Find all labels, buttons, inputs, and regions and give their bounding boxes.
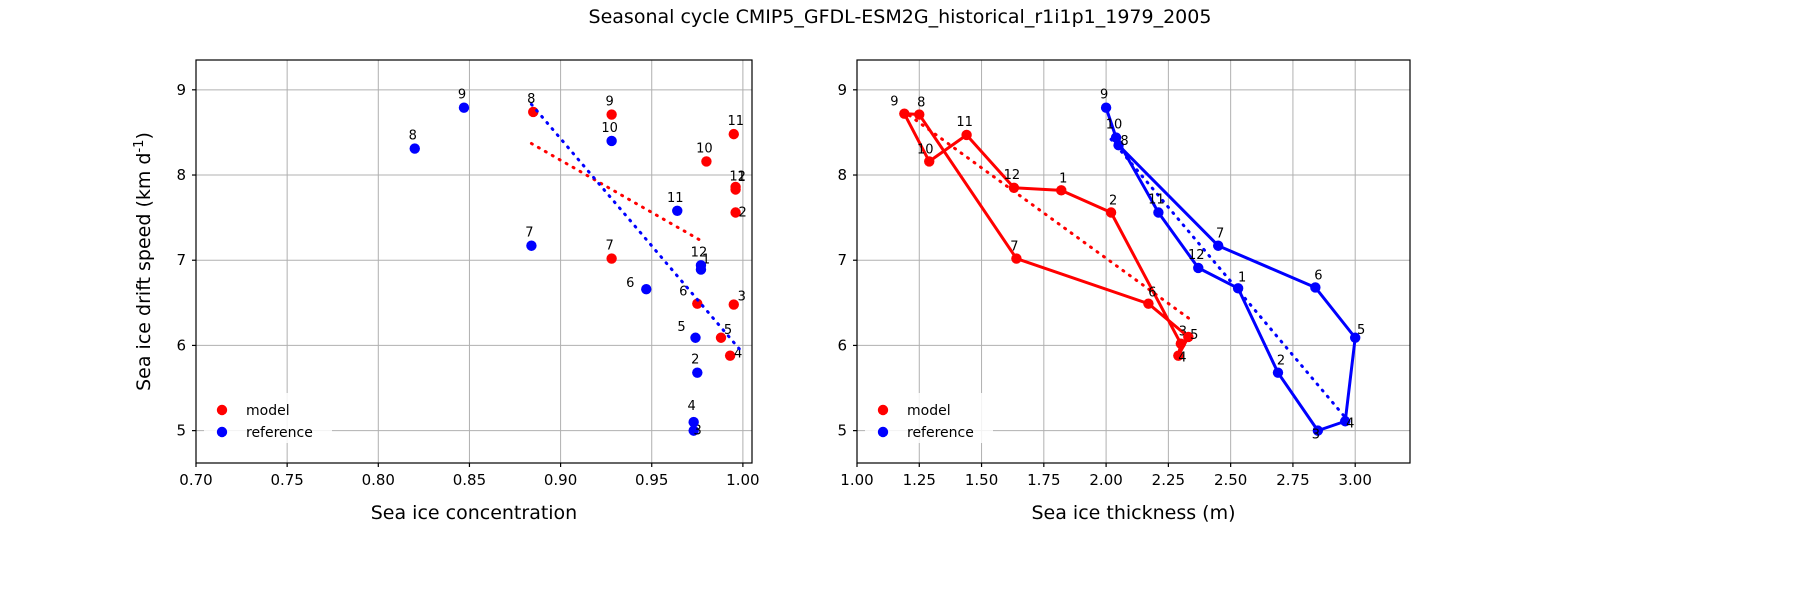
data-point (730, 184, 740, 194)
x-tick-label: 0.90 (544, 471, 577, 489)
scatter-plot-sea-ice-concentration: 0.700.750.800.850.900.951.0056789Sea ice… (0, 0, 880, 600)
legend-marker-model (217, 405, 227, 415)
data-point (690, 333, 700, 343)
x-tick-label: 2.50 (1214, 471, 1247, 489)
data-point (526, 241, 536, 251)
x-tick-label: 0.85 (453, 471, 486, 489)
data-point (961, 130, 971, 140)
point-label: 2 (1277, 354, 1285, 369)
point-label: 10 (917, 142, 934, 157)
point-label: 10 (601, 121, 618, 136)
x-tick-label: 1.75 (1027, 471, 1060, 489)
point-label: 9 (458, 88, 466, 103)
x-tick-label: 0.75 (270, 471, 303, 489)
point-label: 12 (1188, 248, 1205, 263)
data-point (1011, 253, 1021, 263)
y-tick-label: 5 (176, 422, 186, 440)
point-label: 4 (1178, 351, 1186, 366)
point-label: 5 (1190, 328, 1198, 343)
y-tick-label: 9 (176, 81, 186, 99)
point-label: 11 (667, 191, 684, 206)
point-label: 4 (688, 399, 696, 414)
point-label: 9 (890, 95, 898, 110)
x-tick-label: 1.25 (903, 471, 936, 489)
y-tick-label: 8 (837, 166, 847, 184)
data-point (696, 260, 706, 270)
data-point (606, 109, 616, 119)
data-point (606, 253, 616, 263)
x-tick-label: 1.00 (840, 471, 873, 489)
x-tick-label: 2.75 (1276, 471, 1309, 489)
x-tick-label: 0.80 (362, 471, 395, 489)
x-tick-label: 0.95 (635, 471, 668, 489)
data-point (1310, 282, 1320, 292)
point-label: 9 (605, 95, 613, 110)
x-tick-label: 2.00 (1089, 471, 1122, 489)
data-point (1153, 207, 1163, 217)
legend-label-model: model (246, 403, 290, 419)
line-plot-sea-ice-thickness: 1.001.251.501.752.002.252.502.753.005678… (820, 0, 1800, 600)
point-label: 7 (1010, 240, 1018, 255)
data-point (606, 136, 616, 146)
data-point (459, 103, 469, 113)
point-label: 6 (1314, 268, 1322, 283)
data-point (1111, 132, 1121, 142)
data-point (688, 417, 698, 427)
point-label: 9 (1100, 88, 1108, 103)
y-tick-label: 5 (837, 422, 847, 440)
point-label: 8 (409, 129, 417, 144)
data-point (1273, 367, 1283, 377)
legend-marker-reference (878, 427, 888, 437)
y-tick-label: 6 (176, 336, 186, 354)
data-point (729, 129, 739, 139)
legend-label-model: model (907, 403, 951, 419)
point-label: 10 (696, 141, 713, 156)
point-label: 3 (738, 290, 746, 305)
data-point (1101, 103, 1111, 113)
point-label: 5 (1357, 323, 1365, 338)
data-point (701, 156, 711, 166)
point-label: 4 (1346, 416, 1354, 431)
data-point (1056, 185, 1066, 195)
x-axis-label: Sea ice thickness (m) (1031, 502, 1235, 524)
data-point (924, 156, 934, 166)
y-tick-label: 6 (837, 336, 847, 354)
legend-label-reference: reference (246, 425, 313, 441)
point-label: 2 (691, 353, 699, 368)
point-label: 8 (1120, 134, 1128, 149)
point-label: 3 (1312, 428, 1320, 443)
x-tick-label: 1.00 (726, 471, 759, 489)
legend: modelreference (204, 393, 332, 443)
point-label: 6 (1148, 286, 1156, 301)
data-point (1009, 183, 1019, 193)
x-tick-label: 0.70 (179, 471, 212, 489)
point-label: 11 (1148, 193, 1165, 208)
chart-panel-left: 0.700.750.800.850.900.951.0056789Sea ice… (0, 0, 880, 600)
point-label: 12 (691, 245, 708, 260)
chart-panel-right: 1.001.251.501.752.002.252.502.753.005678… (820, 0, 1800, 600)
legend-marker-model (878, 405, 888, 415)
data-point (1106, 207, 1116, 217)
point-label: 1 (1059, 171, 1067, 186)
y-tick-label: 7 (837, 251, 847, 269)
legend: modelreference (865, 393, 993, 443)
data-point (410, 143, 420, 153)
x-tick-label: 1.50 (965, 471, 998, 489)
point-label: 7 (605, 239, 613, 254)
x-tick-label: 2.25 (1152, 471, 1185, 489)
point-label: 5 (677, 320, 685, 335)
y-tick-label: 9 (837, 81, 847, 99)
series-reference: 123456789101112 (409, 88, 740, 439)
point-label: 10 (1106, 118, 1123, 133)
y-axis-label: Sea ice drift speed (km d-1) (132, 132, 155, 391)
x-tick-label: 3.00 (1338, 471, 1371, 489)
point-label: 6 (626, 276, 634, 291)
point-label: 2 (1109, 194, 1117, 209)
point-label: 7 (525, 226, 533, 241)
data-point (641, 284, 651, 294)
data-point (1193, 263, 1203, 273)
point-label: 1 (1238, 270, 1246, 285)
data-point (672, 206, 682, 216)
legend-marker-reference (217, 427, 227, 437)
point-label: 11 (956, 115, 973, 130)
x-axis-label: Sea ice concentration (371, 502, 577, 524)
point-label: 12 (729, 170, 746, 185)
data-point (914, 109, 924, 119)
figure-root: Seasonal cycle CMIP5_GFDL-ESM2G_historic… (0, 0, 1800, 600)
point-label: 2 (738, 206, 746, 221)
y-tick-label: 8 (176, 166, 186, 184)
data-point (1213, 241, 1223, 251)
legend-label-reference: reference (907, 425, 974, 441)
data-point (899, 108, 909, 118)
data-point (692, 367, 702, 377)
point-label: 8 (917, 96, 925, 111)
y-tick-label: 7 (176, 251, 186, 269)
cycle-line-model (904, 114, 1188, 356)
point-label: 12 (1004, 168, 1021, 183)
point-label: 7 (1216, 227, 1224, 242)
point-label: 11 (727, 114, 744, 129)
